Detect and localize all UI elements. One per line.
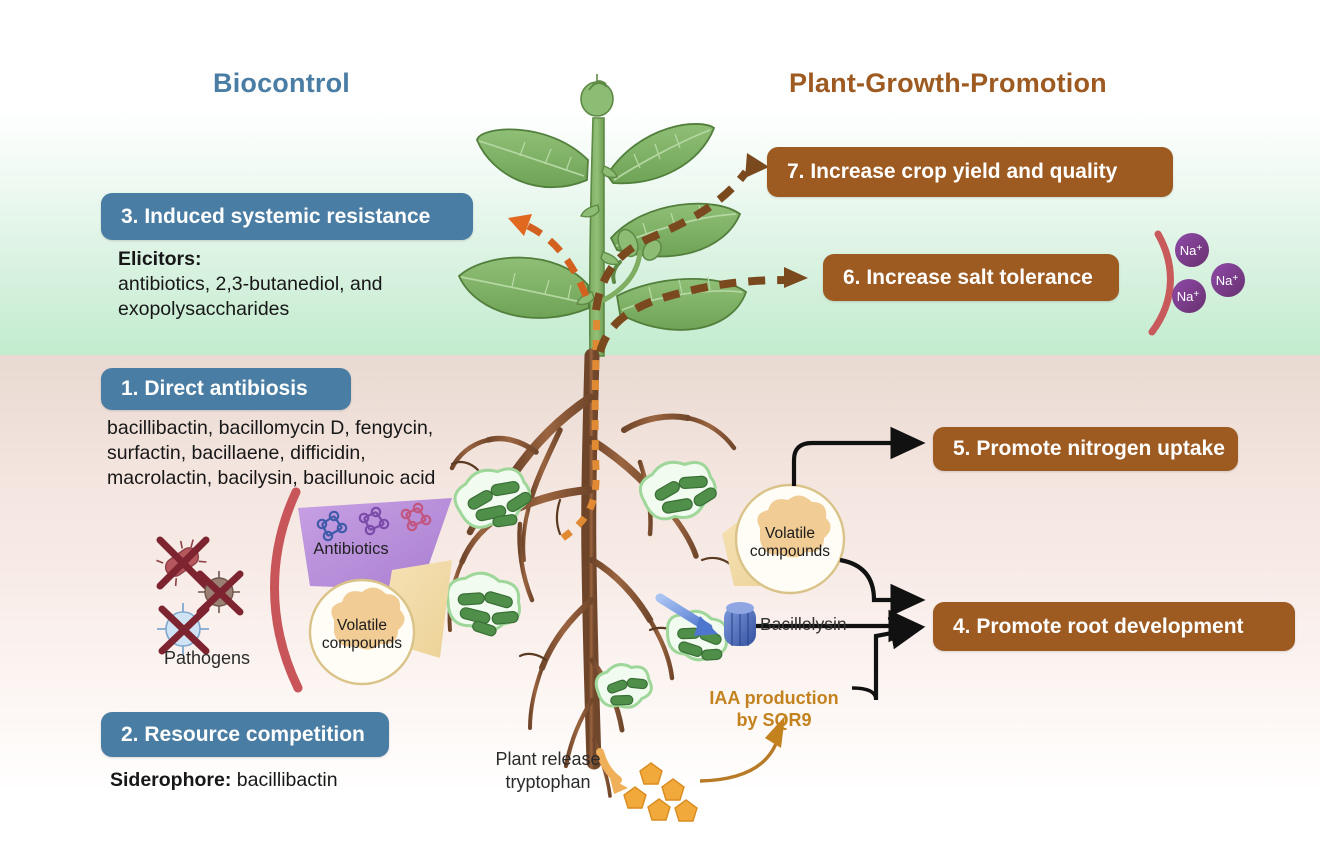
sodium-ion-icon: Na+ Na+ Na+ [1172,233,1245,313]
figure-canvas: Na+ Na+ Na+ [0,0,1320,844]
label-promote-root-development[interactable]: 4. Promote root development [933,602,1295,651]
bacillolysin-label: Bacillolysin [760,613,847,636]
page-title-biocontrol: Biocontrol [213,68,350,99]
label-text: 3. Induced systemic resistance [101,205,450,229]
plant-release-tryptophan-label: Plant release tryptophan [478,748,618,794]
volatile-left-line1: Volatile [312,617,412,635]
label-resource-competition[interactable]: 2. Resource competition [101,712,389,757]
siderophore-description: Siderophore: bacillibactin [110,768,338,793]
volatile-compounds-right-label: Volatile compounds [740,525,840,561]
label-increase-salt-tolerance[interactable]: 6. Increase salt tolerance [823,254,1119,301]
pathogens-label: Pathogens [152,647,262,670]
elicitors-description: Elicitors:antibiotics, 2,3-butanediol, a… [118,247,498,322]
label-text: 7. Increase crop yield and quality [767,160,1137,184]
elicitors-body: antibiotics, 2,3-butanediol, and exopoly… [118,273,383,320]
iaa-production-label: IAA production by SQR9 [708,687,840,731]
siderophore-lead: Siderophore: [110,769,231,791]
label-induced-systemic-resistance[interactable]: 3. Induced systemic resistance [101,193,473,240]
iaa-connector-line [852,688,876,700]
antibiotics-label: Antibiotics [306,538,396,561]
label-promote-nitrogen-uptake[interactable]: 5. Promote nitrogen uptake [933,427,1238,471]
membrane-arc-icon [1152,234,1170,332]
page-title-plant-growth-promotion: Plant-Growth-Promotion [789,68,1107,99]
volatile-compounds-left-label: Volatile compounds [312,617,412,653]
label-text: 1. Direct antibiosis [101,377,328,401]
elicitors-lead: Elicitors: [118,248,201,270]
label-text: 2. Resource competition [101,723,385,747]
tryptophan-molecule-icon [624,763,697,821]
volatile-right-line2: compounds [740,543,840,561]
siderophore-body: bacillibactin [231,769,337,791]
inhibition-arc-icon [275,492,299,688]
volatile-right-line1: Volatile [740,525,840,543]
label-text: 4. Promote root development [933,615,1264,639]
volatile-left-line2: compounds [312,635,412,653]
antibiosis-compound-list: bacillibactin, bacillomycin D, fengycin,… [107,416,477,491]
label-text: 5. Promote nitrogen uptake [933,437,1245,461]
label-direct-antibiosis[interactable]: 1. Direct antibiosis [101,368,351,410]
label-text: 6. Increase salt tolerance [823,266,1113,290]
label-increase-crop-yield[interactable]: 7. Increase crop yield and quality [767,147,1173,197]
pathogen-crossed-out-icon [155,534,240,655]
bacillolysin-enzyme-icon [724,602,756,646]
